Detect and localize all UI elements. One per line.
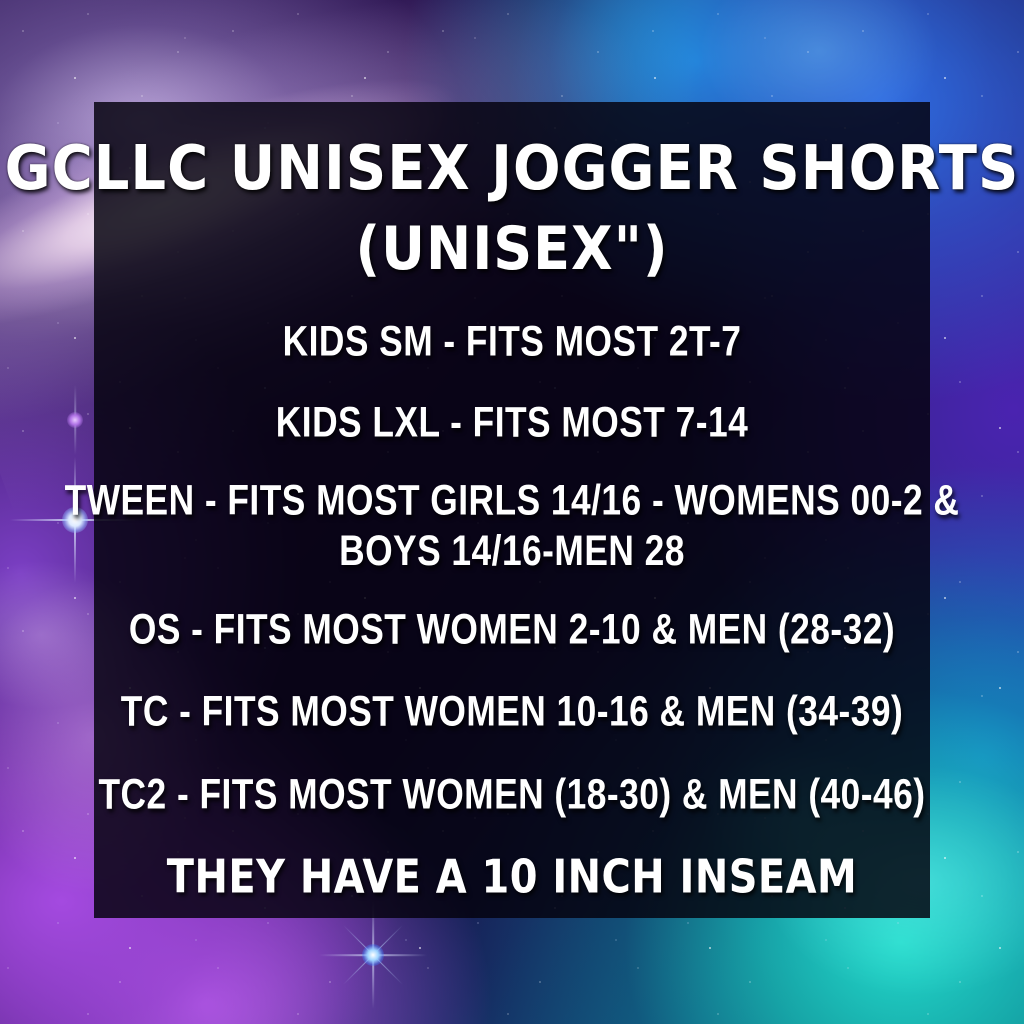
size-line-tc: TC - FITS MOST WOMEN 10-16 & MEN (34-39)	[56, 688, 967, 738]
size-line-os: OS - FITS MOST WOMEN 2-10 & MEN (28-32)	[56, 605, 967, 655]
size-chart-graphic: GCLLC UNISEX JOGGER SHORTS (UNISEX") KID…	[0, 0, 1024, 1024]
page-title: GCLLC UNISEX JOGGER SHORTS	[0, 137, 1024, 200]
inseam-note: THEY HAVE A 10 INCH INSEAM	[47, 850, 978, 905]
size-line-kids-sm: KIDS SM - FITS MOST 2T-7	[56, 317, 967, 367]
size-line-tween: TWEEN - FITS MOST GIRLS 14/16 - WOMENS 0…	[56, 476, 967, 576]
page-subtitle: (UNISEX")	[0, 218, 1024, 279]
size-chart-content: GCLLC UNISEX JOGGER SHORTS (UNISEX") KID…	[0, 0, 1024, 1024]
size-line-kids-lxl: KIDS LXL - FITS MOST 7-14	[56, 398, 967, 448]
size-line-tc2: TC2 - FITS MOST WOMEN (18-30) & MEN (40-…	[56, 770, 967, 820]
